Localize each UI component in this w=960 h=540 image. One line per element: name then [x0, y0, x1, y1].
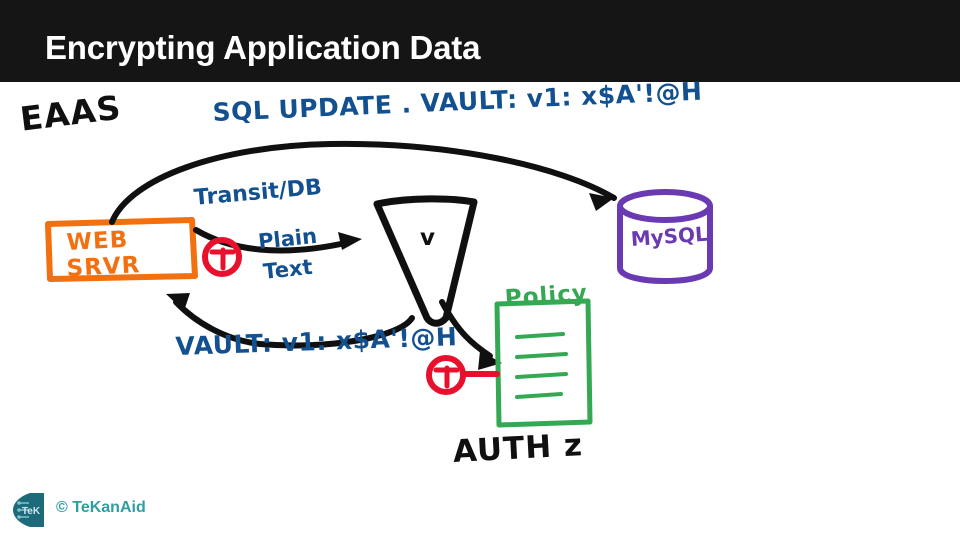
footer-copyright: © TeKanAid — [56, 499, 146, 517]
label-plain-text-line2: Text — [262, 255, 314, 284]
vault-logo-mark: v — [420, 225, 435, 251]
diagram-ink-layer — [0, 82, 960, 540]
slide: Encrypting Application Data — [0, 0, 960, 540]
vault-logo — [377, 199, 474, 323]
slide-header-bar: Encrypting Application Data — [0, 0, 960, 82]
token-web-server-icon — [205, 240, 239, 274]
web-server-label-line2: SRVR — [66, 252, 141, 282]
svg-text:TeK: TeK — [22, 506, 41, 517]
diagram-canvas: EAAS SQL UPDATE . VAULT: v1: x$A'!@H Tra… — [0, 82, 960, 540]
tekanaid-logo-icon: TeK — [10, 490, 50, 530]
web-server-label-line1: WEB — [66, 227, 129, 256]
arrow-web-to-database — [112, 144, 614, 222]
page-title: Encrypting Application Data — [45, 29, 480, 67]
label-authz: AUTH z — [452, 427, 584, 470]
policy-document — [497, 301, 590, 425]
